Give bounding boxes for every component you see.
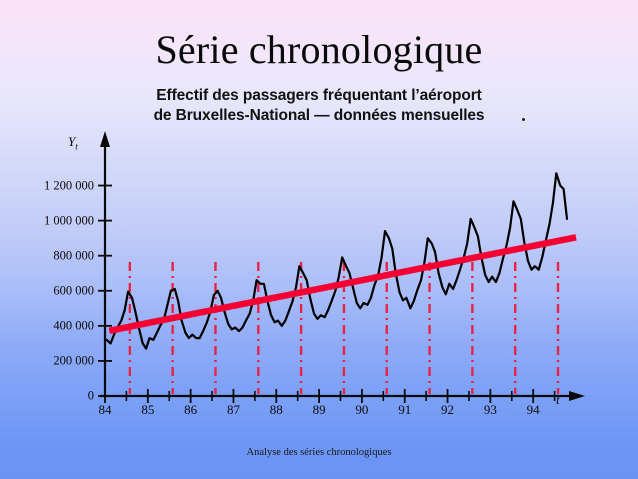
y-tick-label: 400 000 (0, 318, 94, 333)
x-tick-label: 94 (527, 402, 540, 418)
series-passagers-mensuels (107, 173, 567, 348)
x-tick-label: 91 (398, 402, 411, 418)
x-tick-label: 85 (141, 402, 154, 418)
trend-line (109, 237, 576, 330)
y-tick-label: 200 000 (0, 353, 94, 368)
y-tick-label: 600 000 (0, 283, 94, 298)
y-axis-arrowhead (100, 131, 110, 147)
x-tick-label: 87 (227, 402, 240, 418)
y-tick-label: 0 (0, 389, 94, 404)
x-tick-label: 86 (184, 402, 197, 418)
slide-background: Série chronologique Effectif des passage… (0, 0, 638, 479)
x-tick-label: 89 (313, 402, 326, 418)
x-axis-arrowhead (569, 391, 585, 401)
x-tick-label: 92 (441, 402, 454, 418)
x-tick-label: 84 (99, 402, 112, 418)
y-tick-label: 1 200 000 (0, 178, 94, 193)
slide-footer: Analyse des séries chronologiques (0, 447, 638, 458)
x-tick-label: 90 (355, 402, 368, 418)
x-tick-label: 88 (270, 402, 283, 418)
y-tick-label: 1 000 000 (0, 213, 94, 228)
y-tick-label: 800 000 (0, 248, 94, 263)
x-tick-label: 93 (484, 402, 497, 418)
